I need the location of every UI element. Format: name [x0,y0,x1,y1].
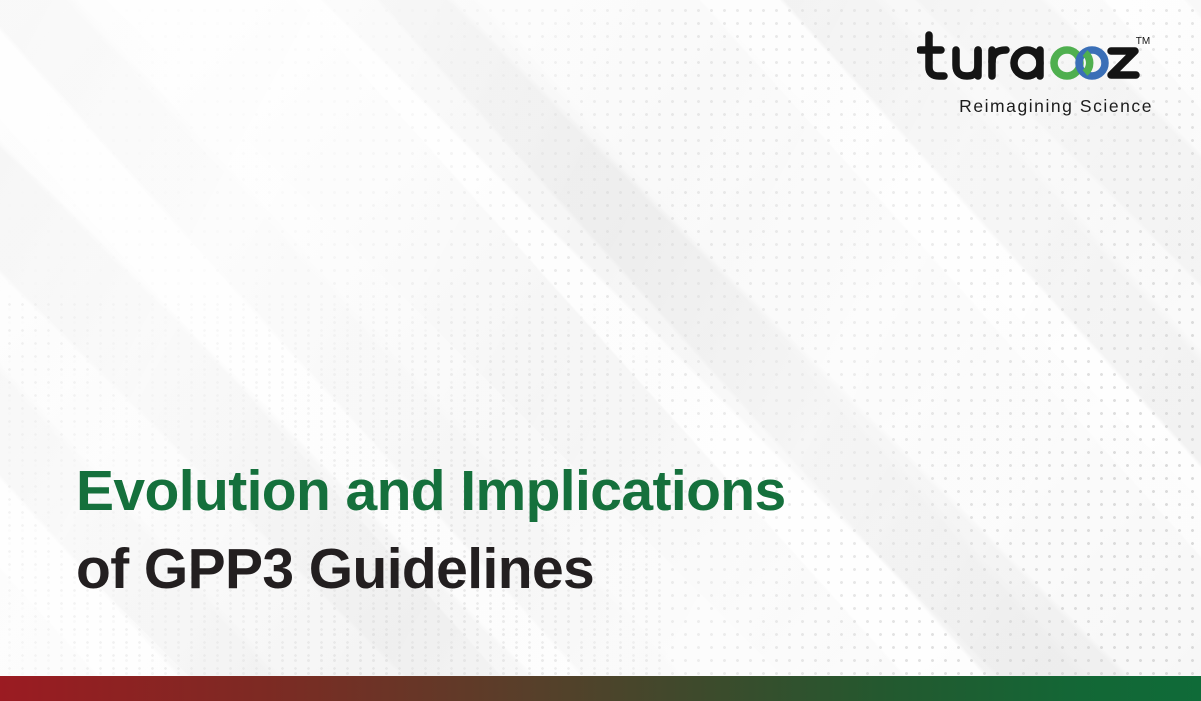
title-slide: TM Reimagining Science Evolution and Imp… [0,0,1201,701]
brand-logo: TM Reimagining Science [899,28,1157,117]
footer-gradient-bar [0,676,1201,701]
slide-title-line-1: Evolution and Implications [76,452,1076,530]
slide-title-line-2: of GPP3 Guidelines [76,530,1076,608]
trademark-symbol: TM [1136,36,1150,47]
turacoz-wordmark-icon: TM [917,28,1157,90]
brand-tagline: Reimagining Science [899,96,1157,117]
slide-title: Evolution and Implications of GPP3 Guide… [76,452,1076,608]
